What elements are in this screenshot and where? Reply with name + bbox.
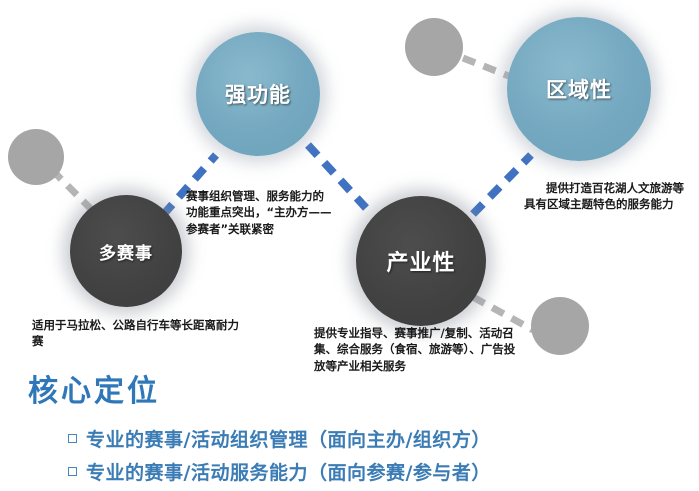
node-multi-event-label: 多赛事	[99, 239, 153, 264]
satellite-circle-right[interactable]	[531, 297, 589, 355]
square-bullet-icon	[68, 434, 77, 443]
caption-multi-event: 适用于马拉松、公路自行车等长距离耐力赛	[32, 317, 247, 350]
satellite-circle-left[interactable]	[8, 129, 64, 185]
list-item-label: 专业的赛事/活动服务能力（面向参赛/参与者）	[86, 458, 491, 485]
page-title: 核心定位	[28, 377, 160, 407]
connector-blue-right	[473, 155, 531, 214]
node-strong-function-label: 强功能	[225, 79, 291, 109]
caption-industriality: 提供专业指导、赛事推广/复制、活动召集、综合服务（食宿、旅游等）、广告投放等产业…	[314, 325, 522, 374]
slide-canvas: 强功能 区域性 多赛事 产业性 赛事组织管理、服务能力的功能重点突出，“主办方—…	[0, 0, 699, 491]
caption-regionality: 提供打造百花湖人文旅游等具有区域主题特色的服务能力	[524, 180, 684, 213]
node-industriality[interactable]: 产业性	[356, 196, 486, 326]
node-industriality-label: 产业性	[386, 245, 455, 277]
node-multi-event[interactable]: 多赛事	[70, 195, 182, 307]
list-item[interactable]: 专业的赛事/活动服务能力（面向参赛/参与者）	[68, 458, 491, 485]
list-item[interactable]: 专业的赛事/活动组织管理（面向主办/组织方）	[68, 425, 491, 452]
square-bullet-icon	[68, 467, 77, 476]
node-strong-function[interactable]: 强功能	[196, 32, 320, 156]
satellite-circle-top[interactable]	[405, 18, 463, 76]
connector-gray-left	[52, 170, 95, 213]
node-regionality[interactable]: 区域性	[507, 17, 651, 161]
list-item-label: 专业的赛事/活动组织管理（面向主办/组织方）	[86, 425, 491, 452]
caption-strong-function: 赛事组织管理、服务能力的功能重点突出，“主办方——参赛者”关联紧密	[186, 188, 334, 237]
node-regionality-label: 区域性	[546, 74, 612, 104]
